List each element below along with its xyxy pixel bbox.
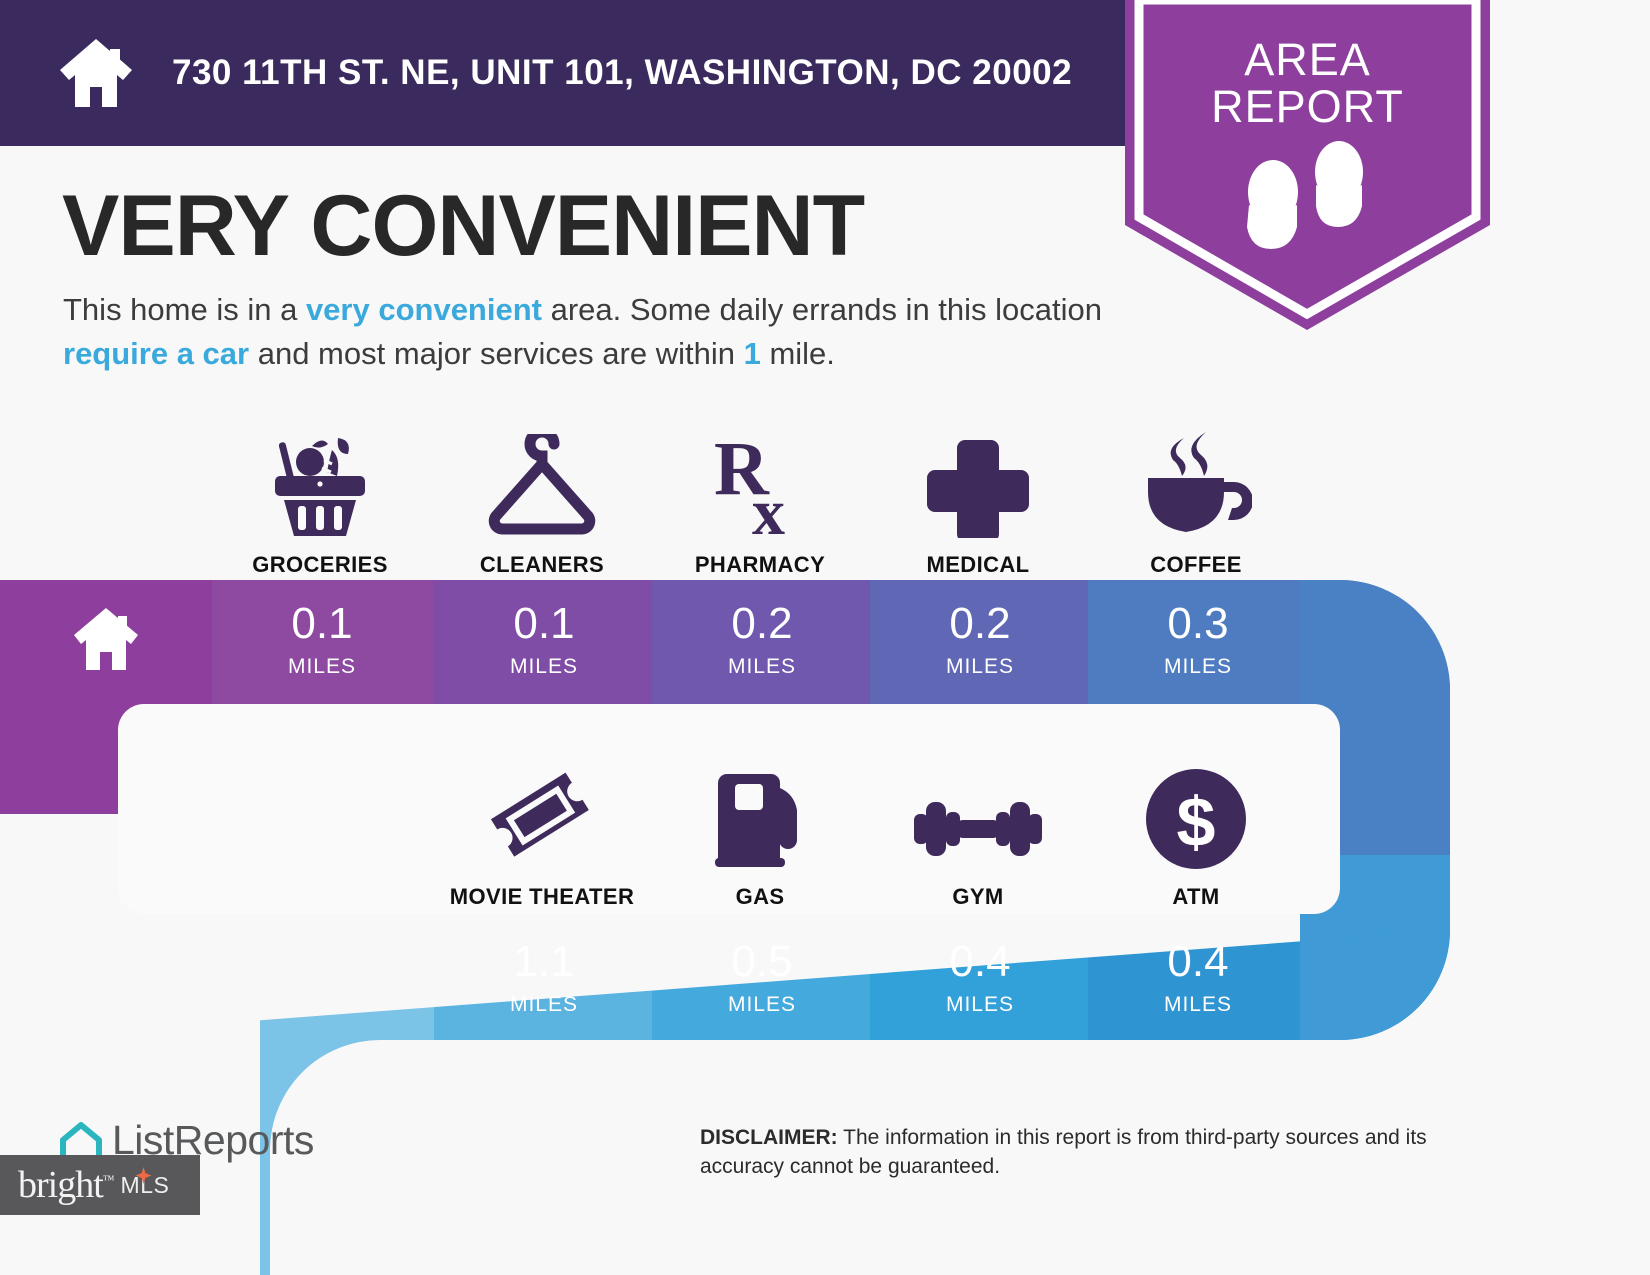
medical-cross-icon [868, 430, 1088, 538]
gas-pump-icon [650, 762, 870, 870]
summary-description: This home is in a very convenient area. … [63, 288, 1123, 376]
category-label: GAS [650, 884, 870, 910]
header-bar: 730 11TH ST. NE, UNIT 101, WASHINGTON, D… [0, 0, 1183, 146]
disclaimer-label: DISCLAIMER: [700, 1126, 838, 1149]
badge-line-2: REPORT [1125, 83, 1490, 130]
distance-unit: MILES [652, 994, 872, 1015]
badge-title: AREA REPORT [1125, 36, 1490, 131]
distance-value: 0.1 [212, 602, 432, 646]
distance-unit: MILES [870, 656, 1090, 677]
desc-part-2: area. Some daily errands in this locatio… [542, 292, 1102, 327]
desc-part-4: mile. [761, 336, 835, 371]
badge-line-1: AREA [1125, 36, 1490, 83]
distance-medical: 0.2 MILES [870, 602, 1090, 677]
bright-wordmark: bright™ [18, 1163, 114, 1207]
distance-pharmacy: 0.2 MILES [652, 602, 872, 677]
ribbon-seg-tail [260, 920, 434, 1275]
distance-unit: MILES [652, 656, 872, 677]
distance-gym: 0.4 MILES [870, 940, 1090, 1015]
category-cleaners[interactable]: CLEANERS [432, 430, 652, 578]
distance-unit: MILES [434, 656, 654, 677]
area-report-page: 730 11TH ST. NE, UNIT 101, WASHINGTON, D… [0, 0, 1650, 1275]
distance-unit: MILES [434, 994, 654, 1015]
ribbon-seg-turn-bottom [1300, 920, 1460, 1050]
page-title: VERY CONVENIENT [62, 183, 864, 269]
category-movie-theater[interactable]: MOVIE THEATER [432, 762, 652, 910]
distance-unit: MILES [870, 994, 1090, 1015]
disclaimer: DISCLAIMER: The information in this repo… [700, 1123, 1500, 1182]
distance-value: 0.4 [1088, 940, 1308, 984]
distance-value: 0.3 [1088, 602, 1308, 646]
category-label: ATM [1086, 884, 1306, 910]
category-pharmacy[interactable]: R x PHARMACY [650, 430, 870, 578]
grocery-basket-icon [210, 430, 430, 538]
distance-unit: MILES [212, 656, 432, 677]
category-label: CLEANERS [432, 552, 652, 578]
bright-mls-badge: bright™ MLS [0, 1155, 200, 1215]
trademark-symbol: ™ [103, 1172, 114, 1186]
distance-value: 1.1 [434, 940, 654, 984]
desc-part-3: and most major services are within [249, 336, 743, 371]
movie-ticket-icon [432, 762, 652, 870]
desc-highlight-2: require a car [63, 336, 249, 371]
category-gym[interactable]: GYM [868, 762, 1088, 910]
clothes-hanger-icon [432, 430, 652, 538]
category-medical[interactable]: MEDICAL [868, 430, 1088, 578]
category-atm[interactable]: $ ATM [1086, 762, 1306, 910]
area-report-badge: AREA REPORT [1125, 0, 1490, 330]
category-label: GROCERIES [210, 552, 430, 578]
distance-cleaners: 0.1 MILES [434, 602, 654, 677]
distance-groceries: 0.1 MILES [212, 602, 432, 677]
category-label: MOVIE THEATER [432, 884, 652, 910]
rx-prescription-icon: R x [650, 430, 870, 538]
dumbbell-icon [868, 762, 1088, 870]
distance-atm: 0.4 MILES [1088, 940, 1308, 1015]
distance-value: 0.4 [870, 940, 1090, 984]
desc-highlight-1: very convenient [306, 292, 542, 327]
dollar-coin-icon: $ [1086, 762, 1306, 870]
category-label: GYM [868, 884, 1088, 910]
category-gas[interactable]: GAS [650, 762, 870, 910]
distance-value: 0.2 [652, 602, 872, 646]
category-label: COFFEE [1086, 552, 1306, 578]
distance-unit: MILES [1088, 994, 1308, 1015]
svg-text:$: $ [1177, 783, 1216, 861]
svg-text:x: x [752, 476, 785, 538]
distance-movie-theater: 1.1 MILES [434, 940, 654, 1015]
coffee-cup-icon [1086, 430, 1306, 538]
house-icon [58, 37, 134, 109]
bright-text: bright [18, 1164, 103, 1206]
distance-gas: 0.5 MILES [652, 940, 872, 1015]
distance-value: 0.2 [870, 602, 1090, 646]
desc-highlight-3: 1 [744, 336, 761, 371]
category-label: PHARMACY [650, 552, 870, 578]
home-marker-icon [72, 606, 140, 672]
property-address: 730 11TH ST. NE, UNIT 101, WASHINGTON, D… [172, 53, 1072, 93]
distance-value: 0.1 [434, 602, 654, 646]
distance-unit: MILES [1088, 656, 1308, 677]
distance-coffee: 0.3 MILES [1088, 602, 1308, 677]
category-label: MEDICAL [868, 552, 1088, 578]
bright-star-icon [135, 1167, 152, 1184]
category-coffee[interactable]: COFFEE [1086, 430, 1306, 578]
category-groceries[interactable]: GROCERIES [210, 430, 430, 578]
desc-part-1: This home is in a [63, 292, 306, 327]
distance-value: 0.5 [652, 940, 872, 984]
